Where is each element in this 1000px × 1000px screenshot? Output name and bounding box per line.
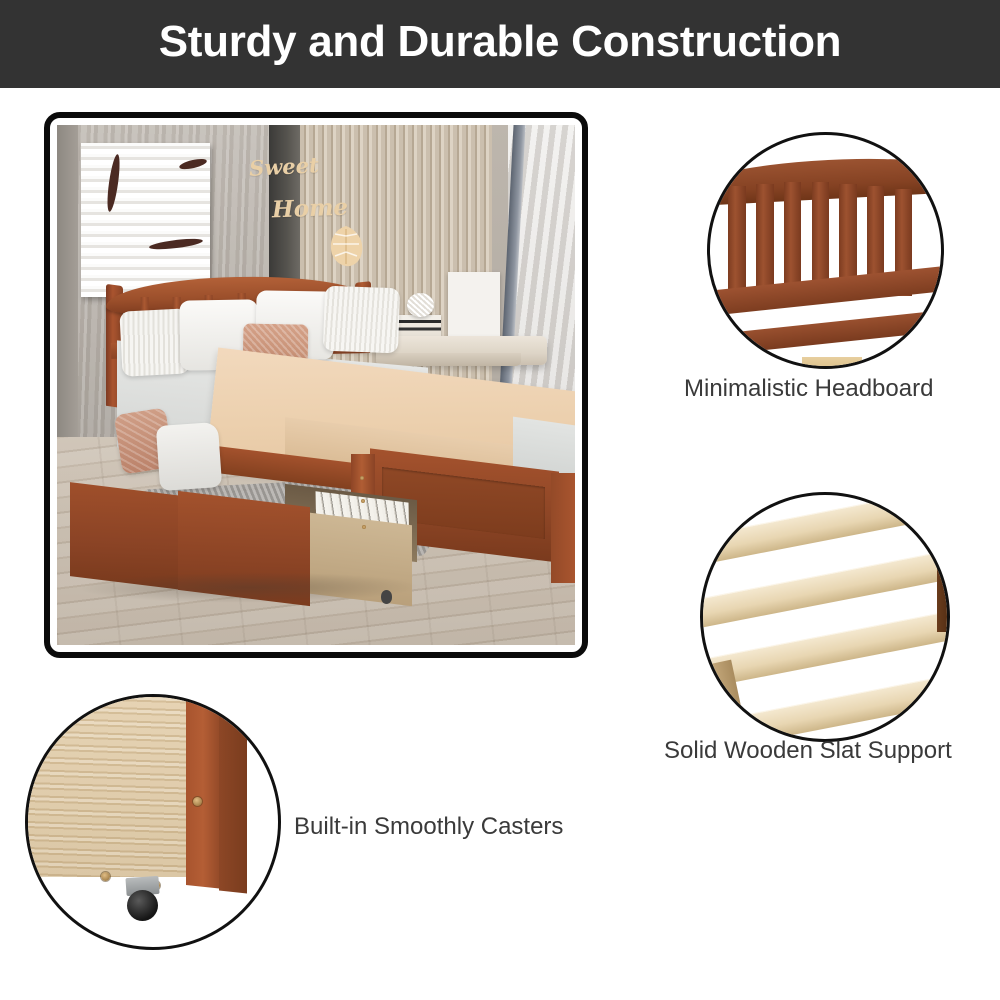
- infographic-canvas: Sturdy and Durable Construction Swee: [0, 0, 1000, 1000]
- callout-circle-built-in-smoothly-casters: [25, 694, 281, 950]
- platform-storage-bed: [57, 125, 575, 645]
- bedroom-scene-photo: Sweet Home: [57, 125, 575, 645]
- headboard-slat: [756, 184, 773, 290]
- bed-side-rail-closeup: [707, 307, 944, 358]
- callout-label-solid-wooden-slat-support: Solid Wooden Slat Support: [664, 737, 952, 765]
- callout-circle-minimalistic-headboard: [707, 132, 944, 369]
- callout-label-minimalistic-headboard: Minimalistic Headboard: [684, 375, 933, 403]
- floor-cushion-white: [156, 422, 223, 491]
- main-image-frame: Sweet Home: [44, 112, 588, 658]
- caster-wheel: [127, 890, 158, 921]
- page-title: Sturdy and Durable Construction: [0, 0, 1000, 88]
- callout-label-built-in-smoothly-casters: Built-in Smoothly Casters: [294, 813, 563, 841]
- header-bar: Sturdy and Durable Construction: [0, 0, 1000, 88]
- bed-leg-post-front: [219, 694, 247, 893]
- screw-head-icon: [101, 872, 110, 881]
- frame-rail-dark: [937, 558, 950, 631]
- drawer-side-panel: [25, 694, 193, 877]
- screw-head-icon: [193, 797, 202, 806]
- headboard-slat: [784, 182, 801, 288]
- footboard-post-right: [551, 473, 575, 582]
- headboard-slat: [839, 184, 856, 290]
- headboard-slat: [728, 186, 745, 292]
- bed-floor-shadow: [69, 572, 429, 603]
- headboard-slat: [812, 182, 829, 288]
- bed-leg-post-side: [186, 694, 224, 889]
- screw-head-icon: [360, 476, 364, 480]
- callout-circle-solid-wooden-slat-support: [700, 492, 950, 742]
- pillow: [323, 286, 400, 354]
- pine-slat-peek: [802, 357, 862, 369]
